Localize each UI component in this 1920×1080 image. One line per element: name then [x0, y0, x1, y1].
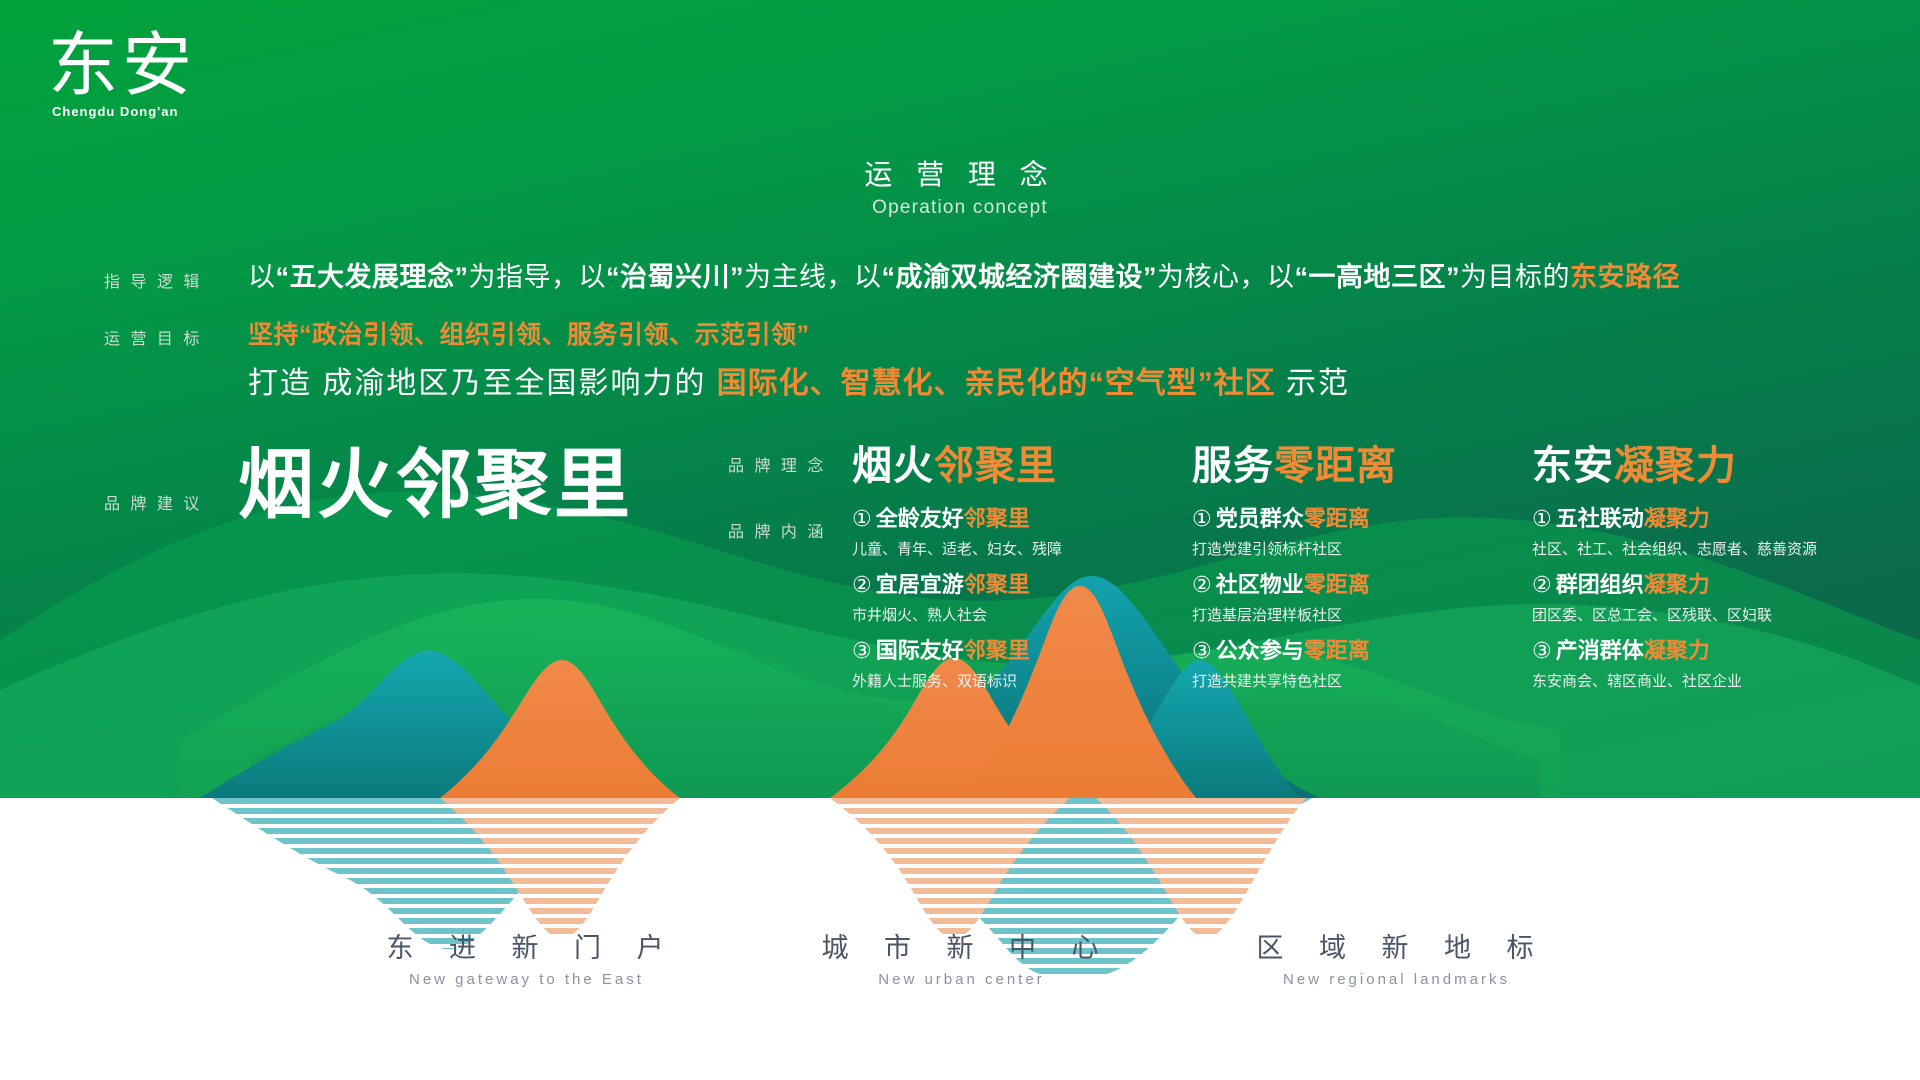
item-heading-white: 公众参与	[1216, 638, 1304, 663]
slogan-1-en: New gateway to the East	[372, 968, 677, 992]
item-heading-white: 全龄友好	[876, 506, 964, 531]
column-3-title-white: 东安	[1532, 444, 1614, 488]
item-heading: ③公众参与零距离	[1192, 634, 1532, 668]
item-number: ③	[1192, 638, 1212, 663]
operation-goal-line-1: 坚持“政治引领、组织引领、服务引领、示范引领”	[248, 318, 810, 352]
logic-quote-1: “五大发展理念”	[276, 262, 469, 292]
label-brand-suggestion: 品 牌 建 议	[104, 490, 202, 514]
logic-part-4: 为核心，以	[1157, 262, 1295, 292]
item-heading-orange: 邻聚里	[964, 638, 1030, 663]
list-item: ②社区物业零距离 打造基层治理样板社区	[1192, 568, 1532, 630]
item-heading-orange: 邻聚里	[964, 572, 1030, 597]
item-subtext: 打造党建引领标杆社区	[1192, 536, 1532, 564]
item-heading: ①五社联动凝聚力	[1532, 502, 1892, 536]
bottom-slogans: 东 进 新 门 户 New gateway to the East 城 市 新 …	[0, 930, 1920, 992]
item-heading-orange: 凝聚力	[1644, 506, 1710, 531]
goal-part-c: 示范	[1276, 367, 1350, 400]
poster-canvas: 东安 Chengdu Dong'an 运 营 理 念 Operation con…	[0, 0, 1920, 1080]
logic-part-1: 以	[248, 262, 276, 292]
goal-accent-community: 国际化、智慧化、亲民化的“空气型”社区	[717, 367, 1276, 400]
item-heading-white: 国际友好	[876, 638, 964, 663]
item-heading: ②群团组织凝聚力	[1532, 568, 1892, 602]
item-number: ②	[1192, 572, 1212, 597]
item-heading-orange: 邻聚里	[964, 506, 1030, 531]
goal-part-a: 打造 成渝地区乃至全国影响力的	[248, 367, 717, 400]
label-brand-connotation: 品 牌 内 涵	[728, 518, 826, 542]
page-title: 运 营 理 念	[0, 158, 1920, 192]
item-number: ③	[1532, 638, 1552, 663]
slogan-2-en: New urban center	[807, 968, 1112, 992]
logo-english-text: Chengdu Dong'an	[52, 104, 248, 119]
item-heading-white: 社区物业	[1216, 572, 1304, 597]
column-1-title-orange: 邻聚里	[934, 444, 1057, 488]
item-heading-white: 群团组织	[1556, 572, 1644, 597]
item-number: ①	[852, 506, 872, 531]
item-heading: ③国际友好邻聚里	[852, 634, 1192, 668]
item-subtext: 打造共建共享特色社区	[1192, 668, 1532, 696]
brand-headline: 烟火邻聚里	[238, 442, 633, 530]
item-heading-orange: 零距离	[1304, 572, 1370, 597]
label-guiding-logic: 指 导 逻 辑	[104, 268, 202, 292]
item-heading: ③产消群体凝聚力	[1532, 634, 1892, 668]
slogan-1: 东 进 新 门 户 New gateway to the East	[372, 930, 677, 992]
item-number: ①	[1192, 506, 1212, 531]
page-title-block: 运 营 理 念 Operation concept	[0, 158, 1920, 221]
logic-quote-3: “成渝双城经济圈建设”	[882, 262, 1158, 292]
item-heading-white: 五社联动	[1556, 506, 1644, 531]
item-heading-orange: 凝聚力	[1644, 638, 1710, 663]
list-item: ③产消群体凝聚力 东安商会、辖区商业、社区企业	[1532, 634, 1892, 696]
brand-columns: 烟火邻聚里 ①全龄友好邻聚里 儿童、青年、适老、妇女、残障 ②宜居宜游邻聚里 市…	[852, 440, 1912, 700]
item-number: ②	[852, 572, 872, 597]
brand-column-2: 服务零距离 ①党员群众零距离 打造党建引领标杆社区 ②社区物业零距离 打造基层治…	[1192, 440, 1532, 700]
column-3-title: 东安凝聚力	[1532, 440, 1892, 492]
item-heading-white: 宜居宜游	[876, 572, 964, 597]
item-subtext: 社区、社工、社会组织、志愿者、慈善资源	[1532, 536, 1892, 564]
list-item: ①全龄友好邻聚里 儿童、青年、适老、妇女、残障	[852, 502, 1192, 564]
item-subtext: 东安商会、辖区商业、社区企业	[1532, 668, 1892, 696]
slogan-3: 区 域 新 地 标 New regional landmarks	[1243, 930, 1548, 992]
column-2-title-orange: 零距离	[1274, 444, 1397, 488]
item-heading: ②宜居宜游邻聚里	[852, 568, 1192, 602]
item-subtext: 外籍人士服务、双语标识	[852, 668, 1192, 696]
label-operation-goal: 运 营 目 标	[104, 325, 202, 349]
logic-part-2: 为指导，以	[469, 262, 607, 292]
item-number: ①	[1532, 506, 1552, 531]
logic-quote-4: “一高地三区”	[1295, 262, 1461, 292]
item-subtext: 儿童、青年、适老、妇女、残障	[852, 536, 1192, 564]
item-heading-orange: 零距离	[1304, 506, 1370, 531]
operation-goal-line-2: 打造 成渝地区乃至全国影响力的 国际化、智慧化、亲民化的“空气型”社区 示范	[248, 362, 1350, 406]
item-subtext: 市井烟火、熟人社会	[852, 602, 1192, 630]
list-item: ③公众参与零距离 打造共建共享特色社区	[1192, 634, 1532, 696]
list-item: ①五社联动凝聚力 社区、社工、社会组织、志愿者、慈善资源	[1532, 502, 1892, 564]
list-item: ①党员群众零距离 打造党建引领标杆社区	[1192, 502, 1532, 564]
logo-chinese-text: 东安	[48, 28, 248, 102]
list-item: ③国际友好邻聚里 外籍人士服务、双语标识	[852, 634, 1192, 696]
column-1-title-white: 烟火	[852, 444, 934, 488]
slogan-3-cn: 区 域 新 地 标	[1243, 930, 1548, 966]
slogan-1-cn: 东 进 新 门 户	[372, 930, 677, 966]
logic-part-5: 为目标的	[1460, 262, 1570, 292]
list-item: ②群团组织凝聚力 团区委、区总工会、区残联、区妇联	[1532, 568, 1892, 630]
list-item: ②宜居宜游邻聚里 市井烟火、熟人社会	[852, 568, 1192, 630]
item-subtext: 打造基层治理样板社区	[1192, 602, 1532, 630]
item-number: ②	[1532, 572, 1552, 597]
guiding-logic-statement: 以“五大发展理念”为指导，以“治蜀兴川”为主线，以“成渝双城经济圈建设”为核心，…	[248, 258, 1908, 296]
page-subtitle: Operation concept	[0, 195, 1920, 221]
item-heading-white: 产消群体	[1556, 638, 1644, 663]
logic-accent-dongan-path: 东安路径	[1570, 262, 1680, 292]
slogan-3-en: New regional landmarks	[1243, 968, 1548, 992]
column-3-title-orange: 凝聚力	[1614, 444, 1737, 488]
logic-quote-2: “治蜀兴川”	[606, 262, 744, 292]
item-heading-orange: 零距离	[1304, 638, 1370, 663]
item-heading: ②社区物业零距离	[1192, 568, 1532, 602]
item-subtext: 团区委、区总工会、区残联、区妇联	[1532, 602, 1892, 630]
column-2-title-white: 服务	[1192, 444, 1274, 488]
brand-logo: 东安 Chengdu Dong'an	[48, 28, 248, 119]
slogan-2: 城 市 新 中 心 New urban center	[807, 930, 1112, 992]
brand-column-1: 烟火邻聚里 ①全龄友好邻聚里 儿童、青年、适老、妇女、残障 ②宜居宜游邻聚里 市…	[852, 440, 1192, 700]
logic-part-3: 为主线，以	[744, 262, 882, 292]
item-number: ③	[852, 638, 872, 663]
item-heading: ①党员群众零距离	[1192, 502, 1532, 536]
item-heading-white: 党员群众	[1216, 506, 1304, 531]
item-heading-orange: 凝聚力	[1644, 572, 1710, 597]
brand-column-3: 东安凝聚力 ①五社联动凝聚力 社区、社工、社会组织、志愿者、慈善资源 ②群团组织…	[1532, 440, 1892, 700]
slogan-2-cn: 城 市 新 中 心	[807, 930, 1112, 966]
item-heading: ①全龄友好邻聚里	[852, 502, 1192, 536]
column-1-title: 烟火邻聚里	[852, 440, 1192, 492]
label-brand-concept: 品 牌 理 念	[728, 452, 826, 476]
column-2-title: 服务零距离	[1192, 440, 1532, 492]
